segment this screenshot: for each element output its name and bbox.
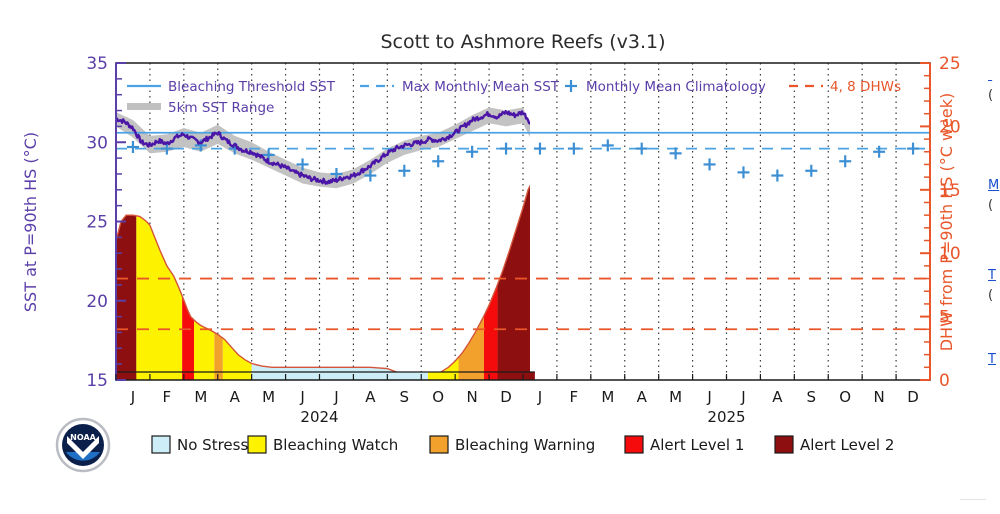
- svg-text:J: J: [740, 388, 745, 406]
- svg-text:S: S: [807, 388, 817, 406]
- svg-text:J: J: [537, 388, 542, 406]
- svg-text:J: J: [299, 388, 304, 406]
- svg-text:2025: 2025: [707, 408, 745, 426]
- side-link-1[interactable]: [988, 68, 1000, 83]
- svg-text:A: A: [230, 388, 241, 406]
- svg-text:D: D: [907, 388, 919, 406]
- svg-text:20: 20: [86, 292, 108, 312]
- svg-text:Monthly Mean Climatology: Monthly Mean Climatology: [586, 79, 766, 95]
- side-text-2: (: [988, 198, 1000, 213]
- svg-text:Alert Level 1: Alert Level 1: [650, 436, 744, 454]
- svg-text:5km SST Range: 5km SST Range: [168, 100, 274, 116]
- svg-text:Bleaching Threshold SST: Bleaching Threshold SST: [168, 79, 336, 95]
- svg-text:2024: 2024: [300, 408, 338, 426]
- page-root: Scott to Ashmore Reefs (v3.1) 1520253035…: [0, 0, 1000, 514]
- svg-text:J: J: [333, 388, 338, 406]
- svg-text:A: A: [637, 388, 648, 406]
- svg-text:M: M: [601, 388, 614, 406]
- svg-text:Max Monthly Mean SST: Max Monthly Mean SST: [402, 79, 560, 95]
- svg-text:Alert Level 2: Alert Level 2: [800, 436, 894, 454]
- svg-text:N: N: [467, 388, 478, 406]
- svg-text:A: A: [365, 388, 376, 406]
- side-link-2[interactable]: M: [988, 178, 1000, 193]
- alert-level-strip: [116, 372, 535, 380]
- svg-text:D: D: [500, 388, 512, 406]
- y-axis-label-left: SST at P=90th HS (°C): [21, 132, 40, 312]
- y-axis-label-right: DHW from P=90th HS (°C week): [937, 93, 956, 352]
- noaa-logo: NOAA: [57, 419, 109, 471]
- svg-text:NOAA: NOAA: [70, 433, 96, 442]
- svg-text:25: 25: [86, 213, 108, 233]
- svg-text:M: M: [669, 388, 682, 406]
- svg-text:M: M: [194, 388, 207, 406]
- svg-text:F: F: [570, 388, 579, 406]
- svg-text:No Stress: No Stress: [177, 436, 248, 454]
- side-link-3[interactable]: T: [988, 268, 1000, 283]
- svg-text:S: S: [400, 388, 410, 406]
- chart-title: Scott to Ashmore Reefs (v3.1): [380, 31, 665, 53]
- side-text-1: (: [988, 88, 1000, 103]
- side-text-3: (: [988, 288, 1000, 303]
- svg-text:Bleaching Warning: Bleaching Warning: [455, 436, 595, 454]
- svg-text:O: O: [432, 388, 444, 406]
- svg-text:F: F: [163, 388, 172, 406]
- svg-text:35: 35: [86, 54, 108, 74]
- svg-text:J: J: [130, 388, 135, 406]
- coral-reef-watch-chart: Scott to Ashmore Reefs (v3.1) 1520253035…: [0, 0, 960, 500]
- svg-text:25: 25: [939, 54, 960, 74]
- svg-text:J: J: [706, 388, 711, 406]
- bottom-legend: No StressBleaching WatchBleaching Warnin…: [152, 436, 894, 454]
- svg-text:N: N: [874, 388, 885, 406]
- chart-svg: Scott to Ashmore Reefs (v3.1) 1520253035…: [0, 0, 960, 500]
- side-link-4[interactable]: T: [988, 352, 1000, 367]
- svg-text:4, 8 DHWs: 4, 8 DHWs: [830, 79, 901, 95]
- svg-text:M: M: [262, 388, 275, 406]
- svg-text:O: O: [839, 388, 851, 406]
- svg-text:15: 15: [86, 371, 108, 391]
- svg-text:Bleaching Watch: Bleaching Watch: [273, 436, 398, 454]
- svg-text:30: 30: [86, 133, 108, 153]
- svg-text:A: A: [772, 388, 783, 406]
- svg-text:0: 0: [939, 371, 950, 391]
